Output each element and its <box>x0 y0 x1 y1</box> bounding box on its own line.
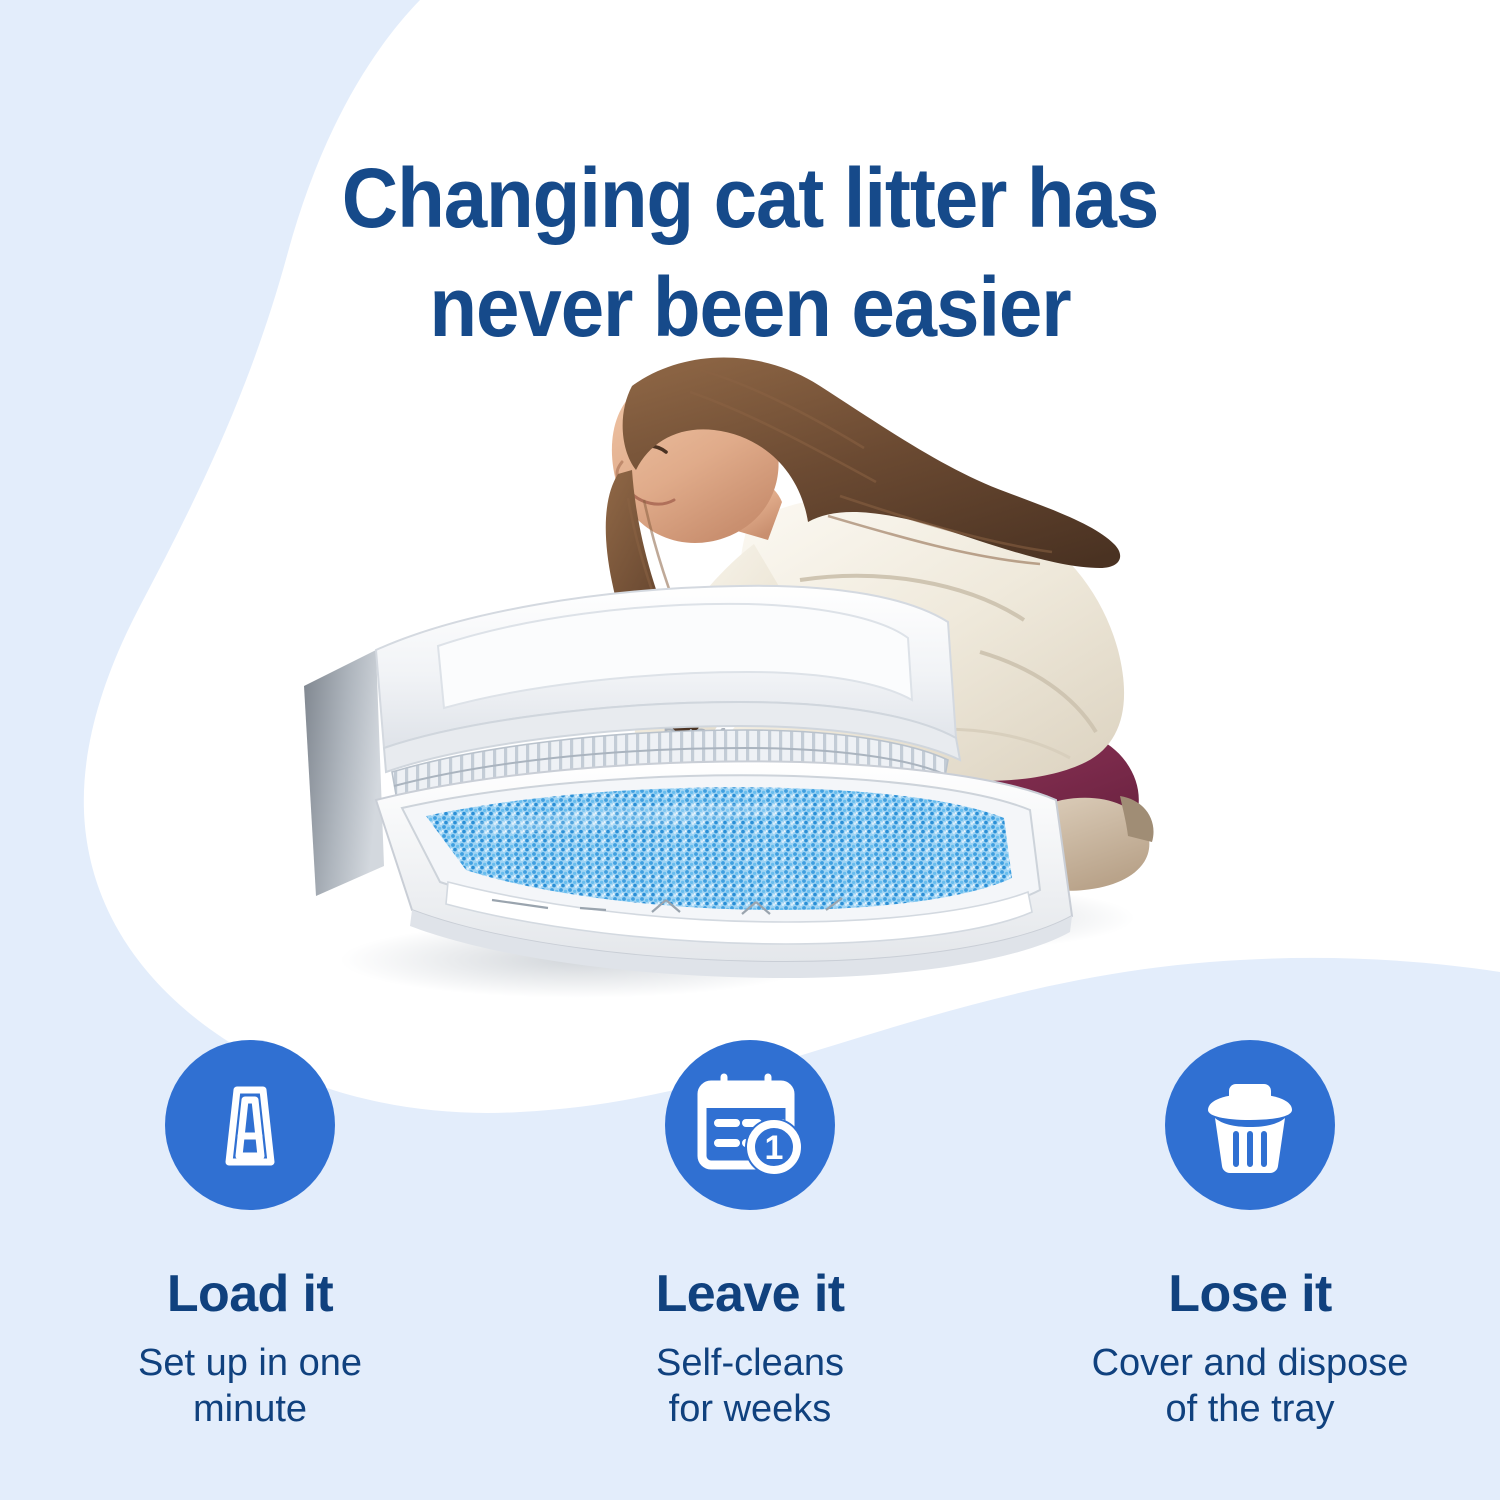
trash-can-icon <box>1196 1070 1304 1180</box>
litter-tray-icon <box>195 1070 305 1180</box>
feature-subtitle: Self-cleans for weeks <box>656 1340 844 1433</box>
feature-title: Load it <box>167 1268 333 1320</box>
headline-line-2: never been easier <box>53 253 1448 362</box>
calendar-badge-number: 1 <box>765 1129 784 1167</box>
feature-icon-badge <box>1165 1040 1335 1210</box>
feature-subtitle-line-2: for weeks <box>656 1386 844 1432</box>
feature-icon-badge: 1 <box>665 1040 835 1210</box>
page-title: Changing cat litter has never been easie… <box>53 144 1448 362</box>
headline-line-1: Changing cat litter has <box>53 144 1448 253</box>
feature-row: Load it Set up in one minute <box>0 1040 1500 1500</box>
feature-subtitle-line-1: Cover and dispose <box>1092 1340 1409 1386</box>
hero-illustration: PetSafe <box>280 330 1160 1030</box>
marketing-panel: Changing cat litter has never been easie… <box>0 0 1500 1500</box>
feature-subtitle-line-1: Set up in one <box>138 1340 362 1386</box>
calendar-one-icon: 1 <box>694 1071 806 1179</box>
feature-title: Leave it <box>656 1268 845 1320</box>
feature-load-it[interactable]: Load it Set up in one minute <box>0 1040 500 1500</box>
feature-subtitle: Set up in one minute <box>138 1340 362 1433</box>
feature-subtitle: Cover and dispose of the tray <box>1092 1340 1409 1433</box>
hero-photo: PetSafe <box>280 330 1160 1030</box>
feature-title: Lose it <box>1168 1268 1331 1320</box>
feature-leave-it[interactable]: 1 Leave it Self-cleans for weeks <box>500 1040 1000 1500</box>
feature-subtitle-line-1: Self-cleans <box>656 1340 844 1386</box>
feature-subtitle-line-2: minute <box>138 1386 362 1432</box>
feature-icon-badge <box>165 1040 335 1210</box>
feature-lose-it[interactable]: Lose it Cover and dispose of the tray <box>1000 1040 1500 1500</box>
box-hood-side <box>304 650 384 896</box>
feature-subtitle-line-2: of the tray <box>1092 1386 1409 1432</box>
